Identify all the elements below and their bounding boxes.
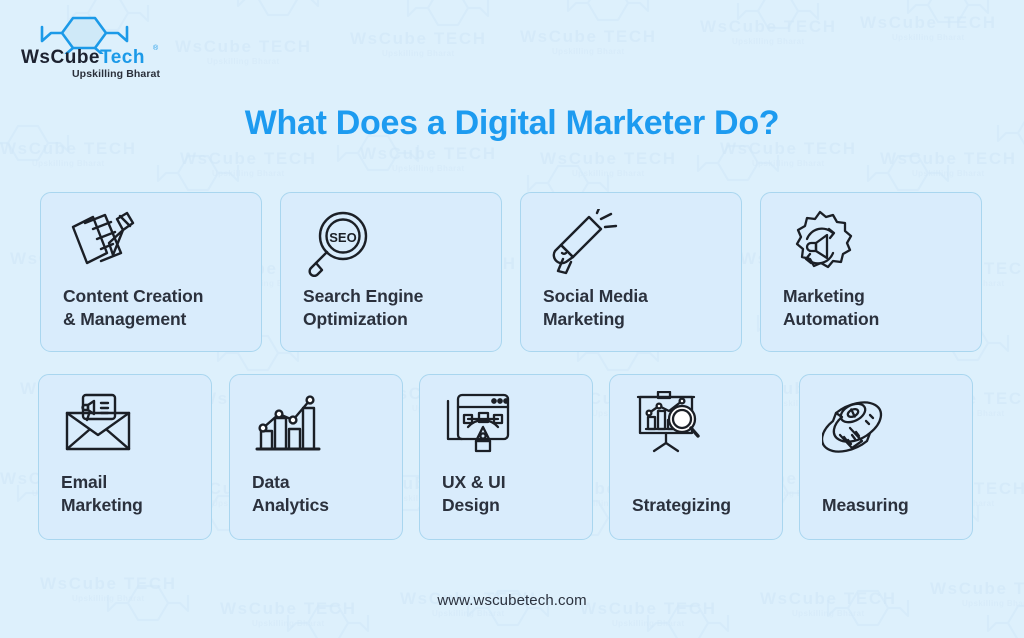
page-title: What Does a Digital Marketer Do? bbox=[0, 104, 1024, 143]
brand-tagline: Upskilling Bharat bbox=[72, 68, 160, 80]
service-card-email-marketing[interactable]: Email Marketing bbox=[38, 374, 212, 540]
brand-name-tech: Tech bbox=[100, 47, 145, 68]
bar-chart-trendline-icon bbox=[252, 391, 324, 459]
browser-pen-tool-icon bbox=[442, 391, 514, 459]
service-card-marketing-automation[interactable]: Marketing Automation bbox=[760, 192, 982, 352]
service-card-data-analytics[interactable]: Data Analytics bbox=[229, 374, 403, 540]
footer-website-url: www.wscubetech.com bbox=[0, 592, 1024, 609]
document-pencil-icon bbox=[63, 209, 139, 283]
service-card-label: UX & UI Design bbox=[442, 471, 582, 517]
svg-text:SEO: SEO bbox=[329, 230, 356, 245]
service-card-label: Email Marketing bbox=[61, 471, 201, 517]
gear-megaphone-icon bbox=[783, 209, 857, 283]
megaphone-icon bbox=[543, 209, 619, 279]
service-card-label: Strategizing bbox=[632, 494, 772, 517]
service-card-social-media-marketing[interactable]: Social Media Marketing bbox=[520, 192, 742, 352]
service-card-content-creation[interactable]: Content Creation & Management bbox=[40, 192, 262, 352]
service-card-ux-ui-design[interactable]: UX & UI Design bbox=[419, 374, 593, 540]
measuring-tape-icon bbox=[822, 391, 894, 461]
service-card-label: Marketing Automation bbox=[783, 285, 971, 331]
brand-name-ws: WsCube bbox=[21, 47, 100, 68]
brand-logo: WsCubeTech ® Upskilling Bharat bbox=[20, 14, 230, 78]
service-card-label: Data Analytics bbox=[252, 471, 392, 517]
seo-magnifier-icon: SEO bbox=[303, 209, 375, 281]
infographic-page: WsCubeTech ® Upskilling Bharat What Does… bbox=[0, 0, 1024, 638]
brand-wordmark: WsCubeTech bbox=[21, 47, 145, 69]
service-card-label: Measuring bbox=[822, 494, 962, 517]
service-card-measuring[interactable]: Measuring bbox=[799, 374, 973, 540]
service-card-label: Search Engine Optimization bbox=[303, 285, 491, 331]
service-card-strategizing[interactable]: Strategizing bbox=[609, 374, 783, 540]
service-card-label: Social Media Marketing bbox=[543, 285, 731, 331]
service-card-label: Content Creation & Management bbox=[63, 285, 251, 331]
envelope-megaphone-icon bbox=[61, 391, 135, 455]
service-card-search-engine-optimization[interactable]: SEO Search Engine Optimization bbox=[280, 192, 502, 352]
registered-trademark-mark: ® bbox=[153, 45, 158, 52]
presentation-magnifier-icon bbox=[632, 391, 704, 457]
